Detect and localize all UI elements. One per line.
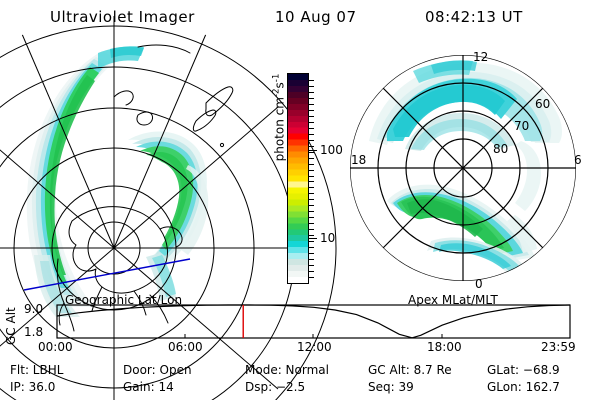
- colorbar-minor-tick: [309, 259, 314, 260]
- mlt-spokes: [350, 55, 576, 281]
- status-row-2: IP: 36.0 Gain: 14 Dsp: −2.5 Seq: 39 GLon…: [0, 380, 600, 397]
- status-mode: Mode: Normal: [245, 363, 329, 377]
- colorbar-minor-tick: [309, 265, 314, 266]
- observation-date: 10 Aug 07: [275, 8, 357, 26]
- colorbar-unit-mid: s: [273, 82, 287, 88]
- colorbar-minor-tick: [309, 146, 314, 147]
- colorbar-unit-exp1: -2: [272, 88, 282, 97]
- apex-mlat-mlt-panel[interactable]: 12 0 18 6 60 70 80: [335, 45, 590, 295]
- mlt-label-0: 0: [475, 277, 483, 291]
- orbit-altitude-curve: [57, 305, 570, 338]
- colorbar-minor-tick: [309, 92, 314, 93]
- colorbar-minor-tick: [309, 116, 314, 117]
- colorbar-minor-tick: [309, 223, 314, 224]
- colorbar-minor-tick: [309, 181, 314, 182]
- colorbar-minor-tick: [309, 122, 314, 123]
- colorbar-minor-tick: [309, 241, 314, 242]
- colorbar-minor-tick: [309, 140, 314, 141]
- status-dsp: Dsp: −2.5: [245, 380, 305, 394]
- geographic-projection: [10, 45, 255, 295]
- status-gc-alt: GC Alt: 8.7 Re: [368, 363, 452, 377]
- colorbar-tick-label-10: 10: [320, 231, 335, 245]
- mlat-label-70: 70: [514, 119, 529, 133]
- status-gain: Gain: 14: [123, 380, 174, 394]
- orbit-xtick-0000: 00:00: [38, 340, 73, 354]
- mlt-dial-plot: [335, 45, 590, 295]
- instrument-title: Ultraviolet Imager: [50, 8, 195, 26]
- status-glon: GLon: 162.7: [487, 380, 560, 394]
- status-bar: Flt: LBHL Door: Open Mode: Normal GC Alt…: [0, 363, 600, 397]
- status-flt: Flt: LBHL: [10, 363, 63, 377]
- status-seq: Seq: 39: [368, 380, 414, 394]
- colorbar-minor-tick: [309, 235, 314, 236]
- colorbar-minor-tick: [309, 170, 314, 171]
- colorbar-gradient-box: [287, 73, 309, 284]
- colorbar-minor-tick: [309, 211, 314, 212]
- observation-time: 08:42:13 UT: [425, 8, 523, 26]
- colorbar-minor-tick: [309, 104, 314, 105]
- colorbar-minor-tick: [309, 86, 314, 87]
- colorbar-minor-tick: [309, 229, 314, 230]
- mlat-label-60: 60: [535, 97, 550, 111]
- colorbar-minor-tick: [309, 253, 314, 254]
- colorbar-minor-tick: [309, 152, 314, 153]
- orbit-xtick-1200: 12:00: [297, 340, 332, 354]
- colorbar-minor-tick: [309, 98, 314, 99]
- orbit-xtick-2359: 23:59: [541, 340, 576, 354]
- colorbar-minor-tick: [309, 176, 314, 177]
- status-glat: GLat: −68.9: [487, 363, 560, 377]
- aurora-emission-inner-geographic: [128, 131, 208, 301]
- colorbar-minor-tick: [309, 199, 314, 200]
- colorbar-axis-title: photon cm-2s-1: [272, 53, 287, 183]
- colorbar-unit-exp2: -1: [272, 74, 282, 83]
- colorbar-minor-tick: [309, 271, 314, 272]
- colorbar-minor-tick: [309, 247, 314, 248]
- status-ip: IP: 36.0: [10, 380, 55, 394]
- colorbar-unit-main: photon cm: [273, 97, 287, 161]
- colorbar-minor-tick: [309, 128, 314, 129]
- orbit-plot-frame: [57, 305, 570, 338]
- orbit-xtick-marks: [57, 334, 570, 338]
- mlat-label-80: 80: [493, 142, 508, 156]
- colorbar-minor-tick: [309, 80, 314, 81]
- colorbar-gradient: [288, 74, 308, 283]
- mlt-label-18: 18: [351, 153, 366, 167]
- colorbar-major-tick-10: [309, 238, 317, 239]
- colorbar: photon cm-2s-1 10010: [258, 60, 333, 295]
- colorbar-minor-tick: [309, 187, 314, 188]
- colorbar-minor-tick: [309, 193, 314, 194]
- colorbar-minor-tick: [309, 205, 314, 206]
- colorbar-major-tick-100: [309, 150, 317, 151]
- colorbar-minor-tick: [309, 164, 314, 165]
- colorbar-minor-tick: [309, 217, 314, 218]
- mlt-label-12: 12: [473, 50, 488, 64]
- colorbar-minor-tick: [309, 134, 314, 135]
- mlt-label-6: 6: [574, 153, 582, 167]
- status-row-1: Flt: LBHL Door: Open Mode: Normal GC Alt…: [0, 363, 600, 380]
- orbit-xtick-1800: 18:00: [427, 340, 462, 354]
- colorbar-minor-tick: [309, 277, 314, 278]
- status-door: Door: Open: [123, 363, 192, 377]
- colorbar-minor-tick: [309, 110, 314, 111]
- colorbar-minor-tick: [309, 158, 314, 159]
- orbit-xtick-0600: 06:00: [168, 340, 203, 354]
- geographic-image-panel[interactable]: [10, 45, 255, 295]
- aurora-emission-nightside: [387, 185, 537, 273]
